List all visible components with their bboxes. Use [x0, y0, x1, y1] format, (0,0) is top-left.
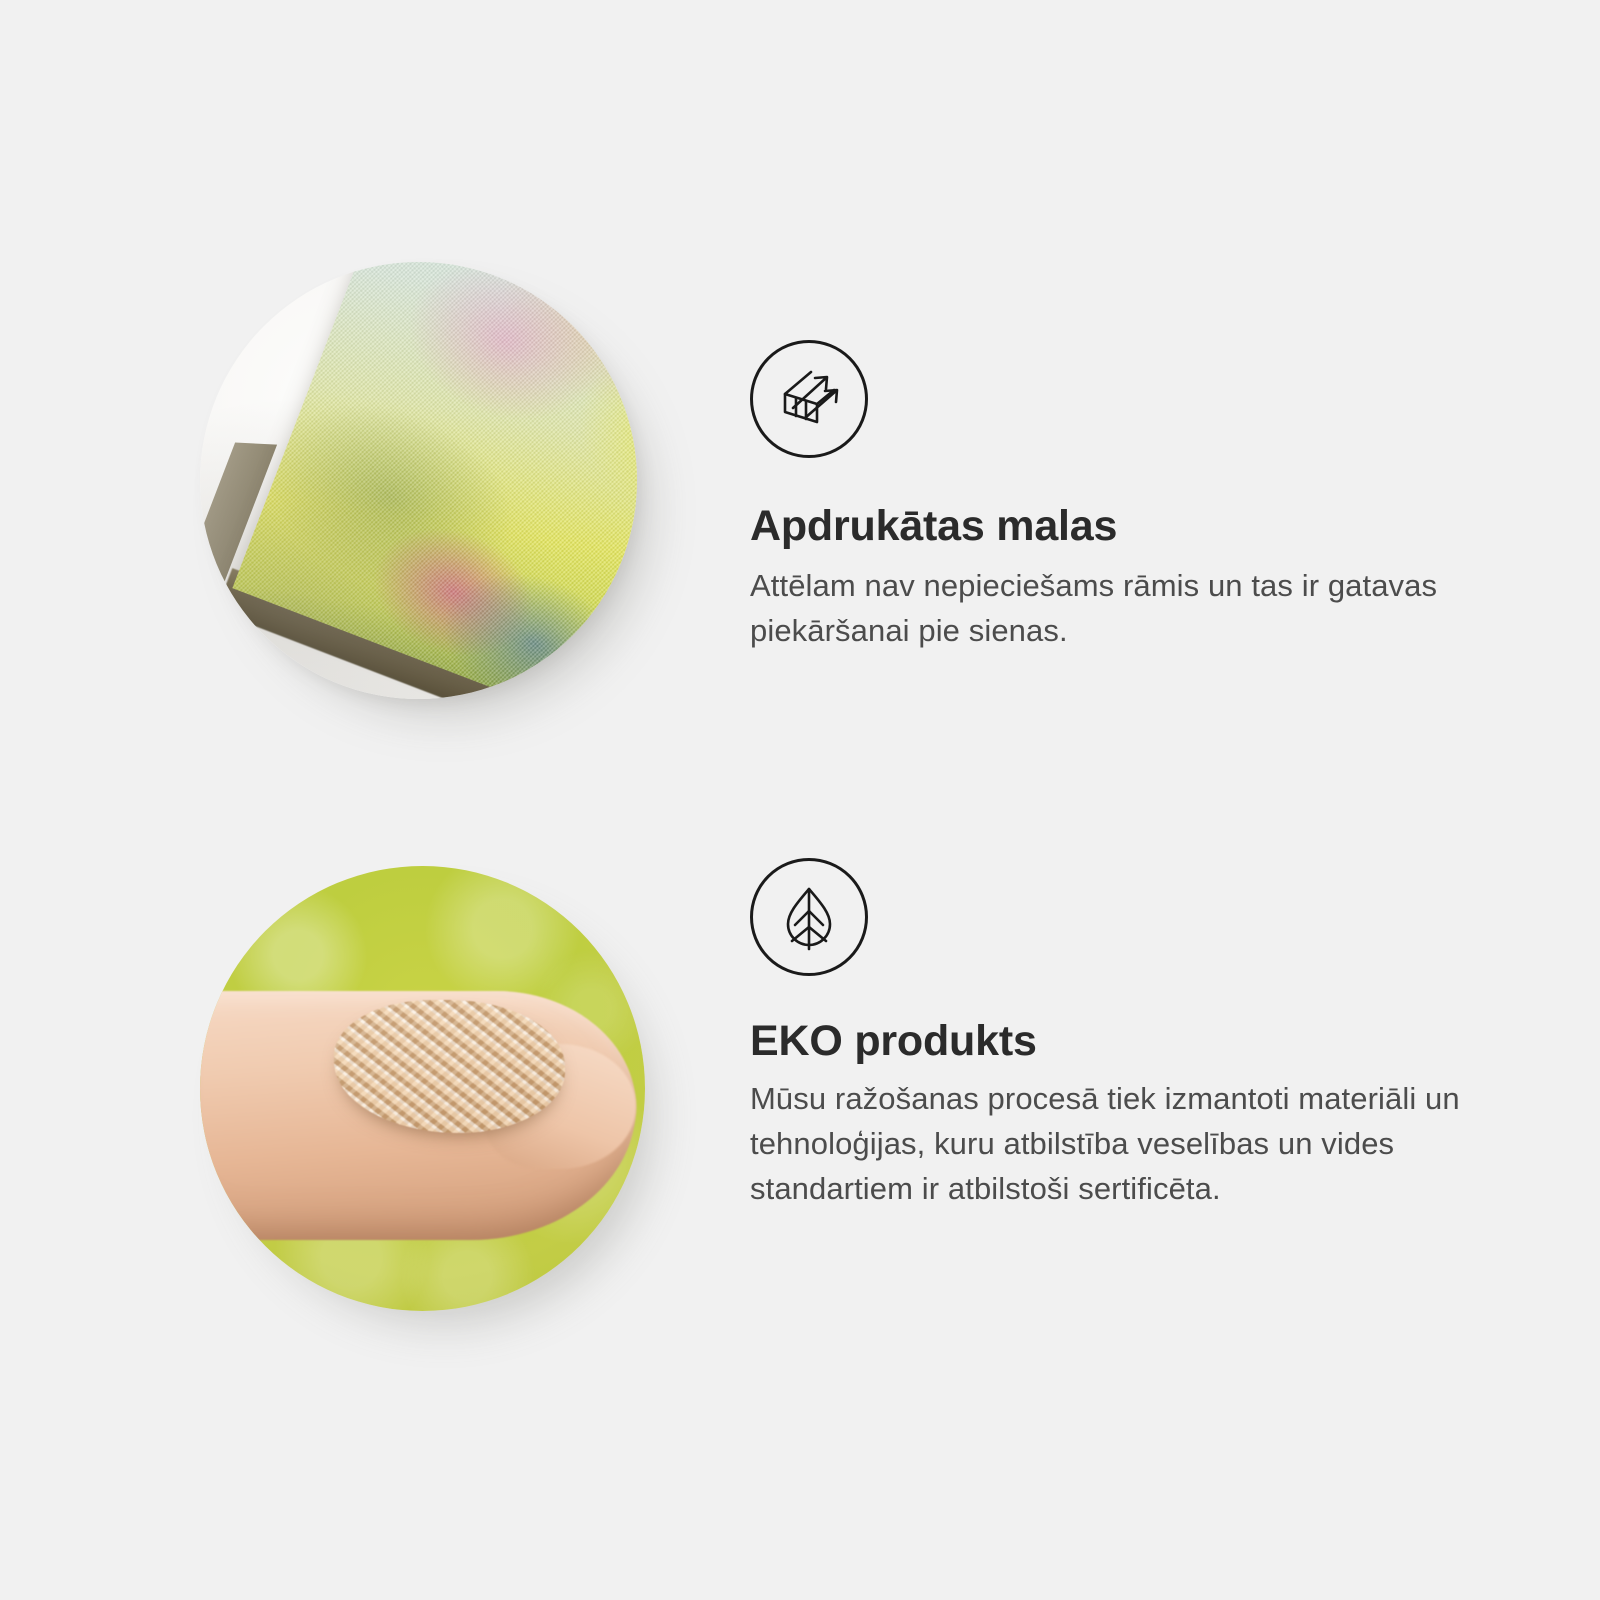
feature-1-title: Apdrukātas malas: [750, 503, 1450, 550]
feature-1-description: Attēlam nav nepieciešams rāmis un tas ir…: [750, 564, 1440, 653]
canvas-corner-photo: [200, 262, 637, 699]
wrapped-canvas-edges-icon: [750, 340, 868, 458]
feature-highlights-page: Apdrukātas malas Attēlam nav nepieciešam…: [0, 0, 1600, 1600]
feature-2-text-column: EKO produkts Mūsu ražošanas procesā tiek…: [750, 858, 1470, 1211]
leaf-icon: [750, 858, 868, 976]
feature-2-title: EKO produkts: [750, 1018, 1470, 1065]
feature-1-text-column: Apdrukātas malas Attēlam nav nepieciešam…: [750, 340, 1450, 654]
feature-2-description: Mūsu ražošanas procesā tiek izmantoti ma…: [750, 1077, 1462, 1211]
wood-chips-in-hands-photo: [200, 866, 645, 1311]
canvas-photo-layers: [200, 262, 637, 699]
